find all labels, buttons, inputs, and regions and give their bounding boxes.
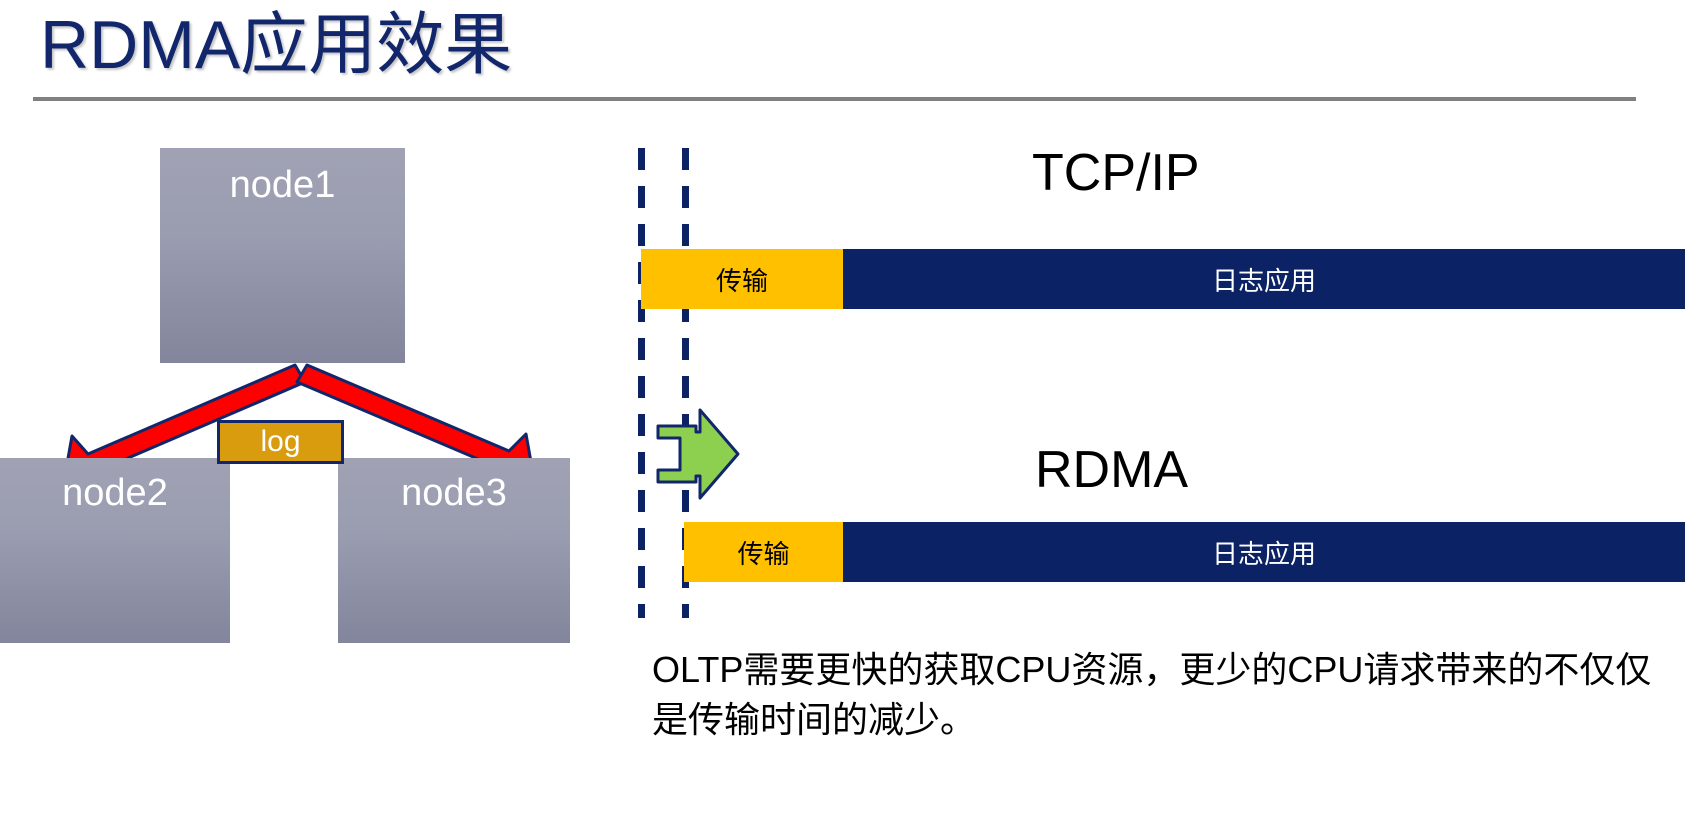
- node2-label: node2: [62, 472, 168, 514]
- improvement-arrow-icon: [646, 406, 742, 502]
- log-box: log: [217, 420, 344, 464]
- tcpip-transfer-segment: 传输: [641, 249, 843, 309]
- tcpip-timeline-bar: 传输 日志应用: [641, 249, 1685, 309]
- node3-label: node3: [401, 472, 507, 514]
- caption-text: OLTP需要更快的获取CPU资源，更少的CPU请求带来的不仅仅是传输时间的减少。: [652, 645, 1662, 745]
- node3-box: node3: [338, 458, 570, 643]
- tcpip-label: TCP/IP: [1032, 143, 1200, 203]
- timeline-marker-start: [638, 148, 645, 618]
- rdma-transfer-segment: 传输: [684, 522, 843, 582]
- rdma-apply-segment: 日志应用: [843, 522, 1685, 582]
- rdma-timeline-bar: 传输 日志应用: [684, 522, 1685, 582]
- page-title: RDMA应用效果: [40, 2, 512, 88]
- log-label: log: [260, 425, 300, 458]
- rdma-label: RDMA: [1035, 440, 1188, 500]
- title-divider: [33, 97, 1636, 101]
- node2-box: node2: [0, 458, 230, 643]
- node1-label: node1: [230, 164, 336, 206]
- slide-canvas: RDMA应用效果 node1 node2 node3 log TCP/IP 传输…: [0, 0, 1696, 826]
- tcpip-apply-segment: 日志应用: [843, 249, 1685, 309]
- node1-box: node1: [160, 148, 405, 363]
